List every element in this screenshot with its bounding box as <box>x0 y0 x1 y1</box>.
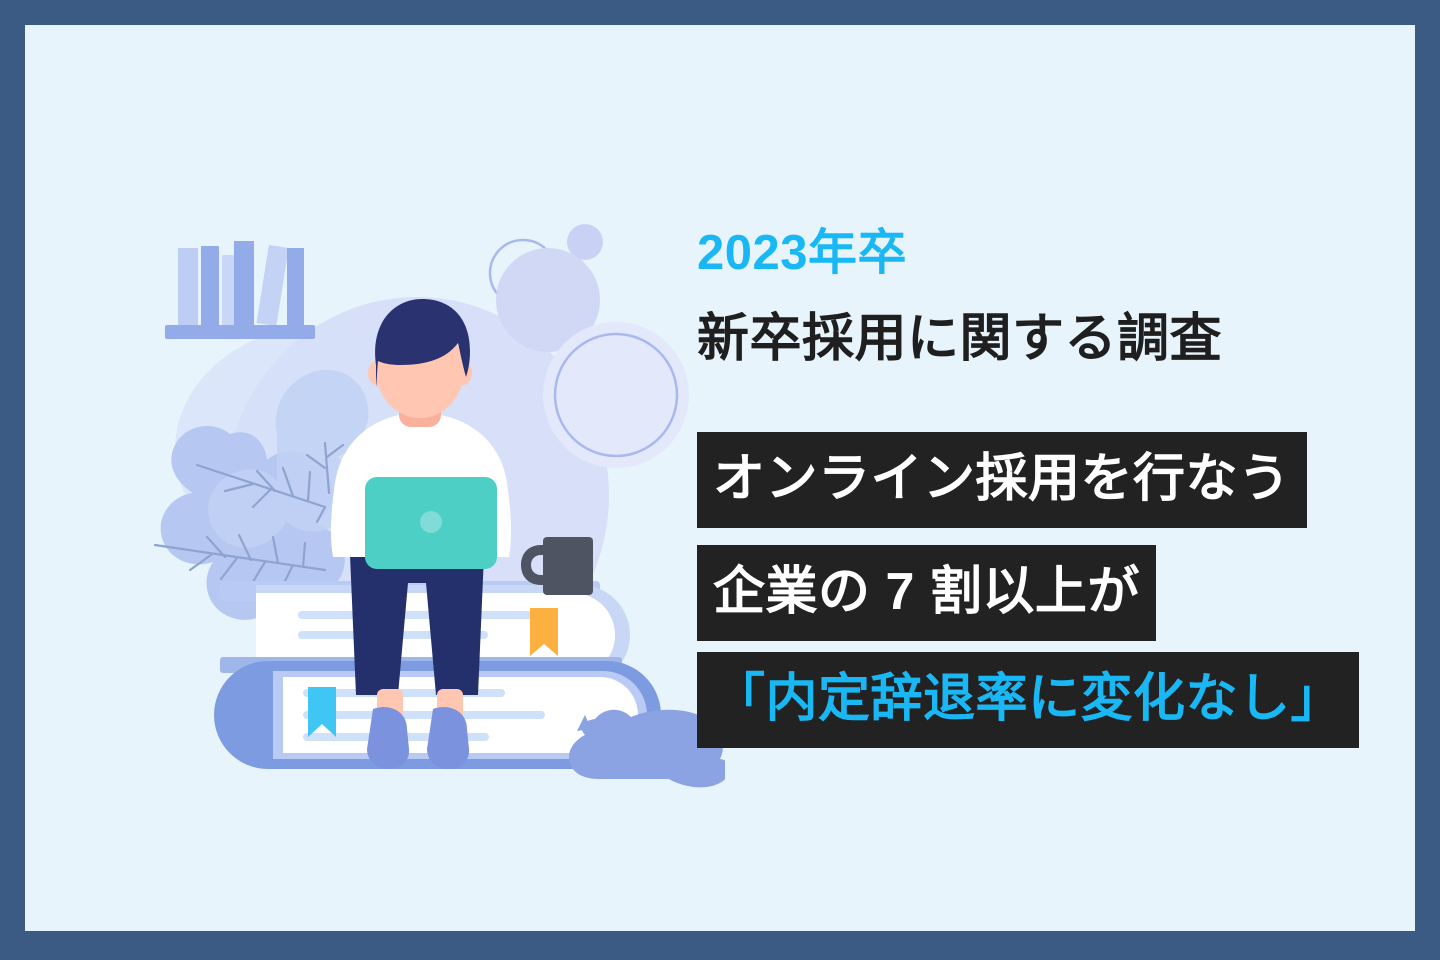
bookshelf-decoration <box>165 241 315 339</box>
poster-canvas: 2023年卒 新卒採用に関する調査 オンライン採用を行なう 企業の 7 割以上が… <box>25 25 1415 931</box>
illustration-svg <box>25 25 725 931</box>
shoe-left <box>367 707 409 769</box>
kicker-text: 2023年卒 <box>697 229 907 278</box>
laptop-logo <box>420 511 442 533</box>
headline-column: 2023年卒 新卒採用に関する調査 オンライン採用を行なう 企業の 7 割以上が… <box>672 25 1415 931</box>
hero-illustration <box>25 25 725 931</box>
highlight-line-1: オンライン採用を行なう <box>697 432 1307 528</box>
page-title: 新卒採用に関する調査 <box>697 313 1222 365</box>
poster-frame: 2023年卒 新卒採用に関する調査 オンライン採用を行なう 企業の 7 割以上が… <box>0 0 1440 960</box>
highlight-line-2: 企業の 7 割以上が <box>697 545 1156 641</box>
open-laptop <box>365 477 497 569</box>
highlight-line-3: 「内定辞退率に変化なし」 <box>697 652 1359 748</box>
shoe-right <box>427 707 469 769</box>
